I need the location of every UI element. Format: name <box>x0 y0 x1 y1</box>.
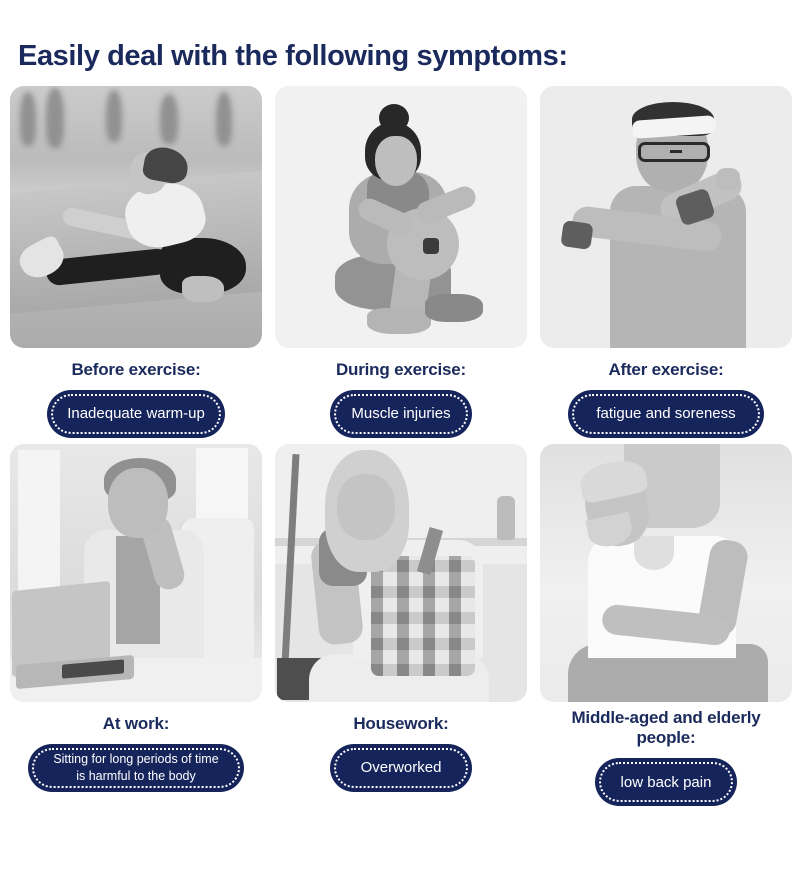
photo-elderly <box>540 444 792 702</box>
symptom-card-before-exercise: Before exercise: Inadequate warm-up <box>10 86 262 438</box>
card-label: Housework: <box>353 714 448 734</box>
badge-text: low back pain <box>621 774 712 791</box>
symptom-badge: Overworked <box>330 744 472 792</box>
symptom-card-during-exercise: During exercise: Muscle injuries <box>275 86 527 438</box>
symptom-badge: Inadequate warm-up <box>47 390 225 438</box>
symptom-badge: low back pain <box>595 758 737 806</box>
card-label: After exercise: <box>608 360 723 380</box>
card-row-top: Before exercise: Inadequate warm-up <box>0 86 800 438</box>
symptom-badge: Sitting for long periods of time is harm… <box>28 744 244 792</box>
card-row-bottom: At work: Sitting for long periods of tim… <box>0 444 800 806</box>
card-label: Middle-aged and elderly people: <box>540 708 792 748</box>
symptom-card-at-work: At work: Sitting for long periods of tim… <box>10 444 262 806</box>
symptom-badge: Muscle injuries <box>330 390 472 438</box>
badge-text: Inadequate warm-up <box>67 405 205 422</box>
symptom-card-after-exercise: After exercise: fatigue and soreness <box>540 86 792 438</box>
symptom-card-elderly: Middle-aged and elderly people: low back… <box>540 444 792 806</box>
symptom-card-grid: Before exercise: Inadequate warm-up <box>0 86 800 806</box>
photo-before-exercise <box>10 86 262 348</box>
photo-after-exercise <box>540 86 792 348</box>
card-label: Before exercise: <box>71 360 200 380</box>
symptoms-infographic: Easily deal with the following symptoms: <box>0 0 800 883</box>
badge-text: Muscle injuries <box>351 405 450 422</box>
badge-text: Sitting for long periods of time is harm… <box>48 751 224 785</box>
photo-during-exercise <box>275 86 527 348</box>
badge-text: Overworked <box>361 759 442 776</box>
symptom-card-housework: Housework: Overworked <box>275 444 527 806</box>
photo-at-work <box>10 444 262 702</box>
card-label: During exercise: <box>336 360 466 380</box>
photo-housework <box>275 444 527 702</box>
symptom-badge: fatigue and soreness <box>568 390 764 438</box>
page-title: Easily deal with the following symptoms: <box>18 40 568 73</box>
card-label: At work: <box>103 714 169 734</box>
badge-text: fatigue and soreness <box>596 405 735 422</box>
